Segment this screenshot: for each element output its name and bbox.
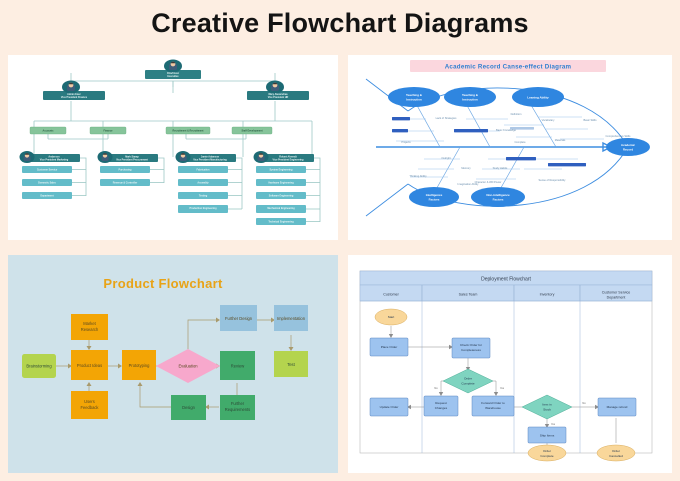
fb-cause-label: Materials	[555, 138, 566, 142]
edge-label-no: No	[434, 386, 438, 390]
fb-cause-label: Sense of Responsibility	[539, 178, 567, 182]
deployment-lane-headers: Customer Sales Team Inventory Customer S…	[360, 285, 652, 301]
pf-node-brainstorming[interactable]: Brainstorming	[22, 354, 56, 378]
pf-node-label: Users	[84, 399, 95, 404]
dep-node-label: Ship Items	[540, 434, 555, 438]
dep-node-forward-order[interactable]: Forward Order to Warehouse	[472, 396, 514, 416]
org-branch-head2: Vice President Marketing	[40, 159, 69, 162]
org-sub-label: Technical Engineering	[268, 221, 294, 224]
pf-node-product-ideas[interactable]: Product Ideas	[71, 350, 108, 380]
lane-header: Customer	[383, 293, 399, 297]
fishbone-svg: Academic Record Canse-effect Diagram	[348, 55, 672, 240]
pf-node-implementation[interactable]: Implementation	[274, 305, 308, 331]
org-sub-label: Production Engineering	[189, 207, 217, 210]
fb-cat-line2: Instruction	[462, 98, 478, 102]
fishbone-category-teaching-2[interactable]: Teaching & Instruction	[444, 87, 496, 107]
pf-node-label: Test	[287, 362, 295, 367]
dep-node-order-complete[interactable]: Order Complete	[528, 445, 566, 461]
fb-cat-line1: Leaning Ability	[527, 95, 549, 99]
fb-head-line2: Record	[623, 148, 634, 152]
fb-cat-line1: Teaching &	[462, 93, 479, 97]
fishbone-title: Academic Record Canse-effect Diagram	[445, 64, 572, 71]
dep-node-label: Forward Order to	[481, 401, 505, 405]
dep-node-label: Complete	[461, 382, 475, 386]
org-branch-head2: Vice President Procurement	[116, 159, 148, 162]
org-green-label: Finance	[103, 130, 113, 133]
pf-node-label: Feedback	[81, 405, 100, 410]
lane-header: Inventory	[540, 293, 555, 297]
dep-node-label: Update Order	[380, 405, 399, 409]
dep-node-label: Cancelled	[609, 454, 623, 458]
pf-node-label: Product Ideas	[77, 363, 102, 368]
fishbone-category-teaching-1[interactable]: Teaching & Instruction	[388, 87, 440, 107]
edge-label-no: No	[582, 401, 586, 405]
dep-node-label: Warehouse	[485, 406, 501, 410]
org-sub-label: Assembly	[197, 182, 209, 185]
fb-cat-line1: Teaching &	[406, 93, 423, 97]
pf-node-label: Review	[231, 364, 244, 369]
lane-header: Customer Service	[602, 291, 631, 295]
org-sub-label: Hardware Engineering	[268, 182, 294, 185]
pf-node-further-requirements[interactable]: Further Requirements	[220, 395, 255, 420]
edge-label-yes: Yes	[551, 422, 556, 426]
org-sub-label: Revenue & Controller	[113, 182, 138, 185]
org-branch-head2: Vice President Manufacturing	[193, 159, 227, 162]
fb-cause-label: Study Habits	[493, 166, 508, 170]
dep-node-label: Manage refund	[607, 405, 628, 409]
poster-canvas: Creative Flowchart Diagrams Accounts	[0, 0, 680, 481]
lane-header: Sales Team	[459, 293, 478, 297]
org-sub-label: Department	[40, 195, 53, 198]
dep-node-label: Request	[435, 401, 447, 405]
fb-cause-label: Projects	[401, 140, 411, 144]
pf-node-label: Brainstorming	[26, 364, 52, 369]
fishbone-category-non-intelligence-factors[interactable]: Non-intelligence Factors	[471, 187, 525, 207]
fb-cat-line2: Instruction	[406, 98, 422, 102]
fb-cat-line2: Factors	[429, 198, 440, 202]
pf-node-label: Research	[81, 327, 99, 332]
fb-cause-label: Complete	[514, 140, 526, 144]
org-l2-line2: Vice President Finance	[61, 96, 88, 99]
fb-cause-label: Lack of Strategies	[436, 116, 457, 120]
fb-cat-line2: Factors	[493, 198, 504, 202]
pf-node-label: Further Design	[225, 316, 253, 321]
org-sub-label: Purchasing	[118, 169, 132, 172]
fb-cause-label: Character & Will Power	[475, 180, 502, 184]
pf-node-further-design[interactable]: Further Design	[220, 305, 257, 331]
fb-cat-line1: Intelligence	[426, 193, 443, 197]
edge-label-yes: Yes	[500, 386, 505, 390]
fb-cause-label: Memory	[461, 166, 471, 170]
org-green-label: Staff Development	[242, 130, 263, 133]
pf-node-label: Requirements	[225, 407, 250, 412]
pf-node-users-feedback[interactable]: Users Feedback	[71, 391, 108, 419]
dep-node-start[interactable]: Start	[375, 309, 407, 325]
pf-node-label: Prototyping	[129, 363, 150, 368]
fb-cause-label: Vocabulary	[542, 118, 556, 122]
pf-node-test[interactable]: Test	[274, 351, 308, 377]
fishbone-head-academic-record[interactable]: Academic Record	[606, 138, 650, 156]
panel-product-flowchart[interactable]: Product Flowchart Brainstorming	[8, 255, 338, 473]
deployment-title: Deployment Flowchart	[481, 277, 531, 283]
dep-node-label: Completeness	[461, 348, 481, 352]
fb-cause-label: Thinking Ability	[409, 174, 427, 178]
deployment-flowchart-svg: Deployment Flowchart Customer Sales Team…	[348, 255, 672, 473]
fishbone-category-leaning-ability[interactable]: Leaning Ability	[512, 87, 564, 107]
org-sub-label: Customer Service	[37, 169, 58, 172]
org-sub-label: Software Engineering	[269, 195, 294, 198]
dep-node-label: Order	[612, 449, 620, 453]
fb-cause-label: Basic Knowledge	[496, 128, 516, 132]
org-sub-label: Fabrication	[197, 169, 210, 172]
fb-cause-label: Basic Skills	[583, 118, 597, 122]
dep-node-label: Place Order	[381, 345, 398, 349]
dep-node-order-cancelled[interactable]: Order Cancelled	[597, 445, 635, 461]
dep-node-label: Check Order for	[460, 343, 482, 347]
dep-node-label: Start	[388, 315, 395, 319]
pf-node-review[interactable]: Review	[220, 351, 255, 380]
fb-cause-label: Outright	[441, 156, 451, 160]
dep-node-ship-items[interactable]: Ship Items	[528, 427, 566, 443]
org-green-label: Accounts	[43, 130, 55, 133]
product-flowchart-svg: Product Flowchart Brainstorming	[8, 255, 338, 473]
dep-node-label: Order	[464, 377, 472, 381]
panel-organizational-chart[interactable]: Accounts Finance Recruitment & Recruitme…	[8, 55, 338, 240]
pf-node-label: Market	[83, 321, 96, 326]
org-root-line2: Executive	[167, 75, 179, 78]
pf-node-label: Evaluation	[178, 364, 198, 369]
product-flowchart-title: Product Flowchart	[103, 276, 223, 291]
page-title: Creative Flowchart Diagrams	[0, 8, 680, 39]
pf-node-prototyping[interactable]: Prototyping	[122, 350, 156, 380]
org-sub-label: Testing	[199, 195, 208, 198]
dep-node-check-order[interactable]: Check Order for Completeness	[452, 338, 490, 358]
pf-node-label: Implementation	[277, 316, 306, 321]
dep-node-label: Complete	[540, 454, 554, 458]
pf-node-design[interactable]: Design	[171, 395, 206, 420]
org-sub-label: Mechanical Engineering	[267, 207, 295, 210]
panel-deployment-flowchart[interactable]: Deployment Flowchart Customer Sales Team…	[348, 255, 672, 473]
dep-node-label: Changes	[435, 406, 448, 410]
dep-node-label: Stock	[543, 408, 551, 412]
org-chart-svg: Accounts Finance Recruitment & Recruitme…	[8, 55, 338, 240]
fb-cause-label: Comprehensive Skills	[606, 134, 632, 138]
dep-node-update-order[interactable]: Update Order	[370, 398, 408, 416]
fb-head-line1: Academic	[621, 143, 636, 147]
dep-node-label: Order	[543, 449, 551, 453]
fb-cat-line1: Non-intelligence	[486, 193, 510, 197]
dep-node-request-changes[interactable]: Request Changes	[424, 396, 458, 416]
pf-node-market-research[interactable]: Market Research	[71, 314, 108, 340]
fishbone-title-banner: Academic Record Canse-effect Diagram	[410, 60, 606, 72]
dep-node-place-order[interactable]: Place Order	[370, 338, 408, 356]
dep-node-label: Item in	[542, 403, 552, 407]
pf-node-label: Further	[231, 401, 245, 406]
dep-node-manage-refund[interactable]: Manage refund	[598, 398, 636, 416]
org-l2-line2: Vice President HR	[268, 96, 289, 99]
pf-node-label: Design	[182, 405, 195, 410]
org-sub-label: Domestic Sales	[38, 182, 56, 185]
panel-fishbone-diagram[interactable]: Academic Record Canse-effect Diagram	[348, 55, 672, 240]
fb-cause-label: Definition	[511, 112, 522, 116]
lane-header: Department	[607, 296, 626, 300]
org-branch-head2: Vice President Engineering	[273, 159, 304, 162]
deployment-title-bar: Deployment Flowchart	[360, 271, 652, 285]
org-green-label: Recruitment & Recruitment	[173, 130, 204, 133]
org-sub-label: System Engineering	[270, 169, 294, 172]
fishbone-category-intelligence-factors[interactable]: Intelligence Factors	[409, 187, 459, 207]
